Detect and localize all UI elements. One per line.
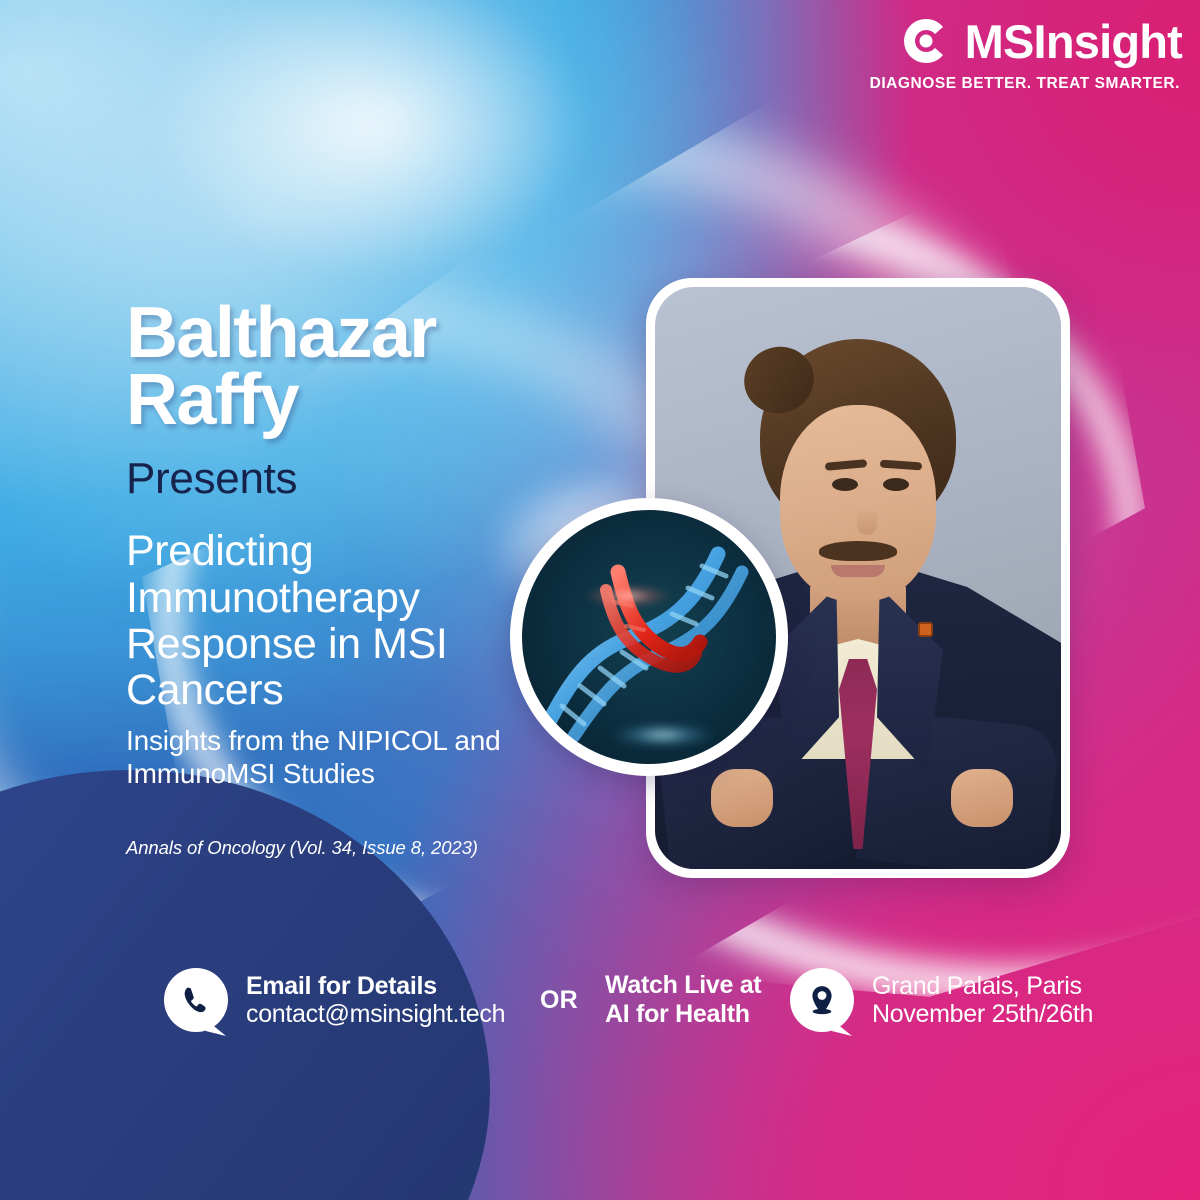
portrait-hand-right (951, 769, 1013, 827)
portrait-mouth (831, 565, 885, 577)
logo-row: MSInsight (901, 16, 1182, 66)
venue-text: Grand Palais, Paris November 25th/26th (872, 972, 1093, 1029)
portrait-nose (857, 497, 877, 535)
email-value[interactable]: contact@msinsight.tech (246, 1000, 505, 1029)
talk-title: Predicting Immunotherapy Response in MSI… (126, 528, 596, 714)
talk-subtitle: Insights from the NIPICOL and ImmunoMSI … (126, 724, 596, 790)
presents-label: Presents (126, 456, 596, 502)
email-contact-block[interactable]: Email for Details contact@msinsight.tech (164, 968, 505, 1032)
watch-live-line1: Watch Live at (605, 971, 761, 1000)
venue-block[interactable]: Grand Palais, Paris November 25th/26th (790, 968, 1093, 1032)
portrait-eye-left (832, 478, 858, 491)
watch-live-line2: AI for Health (605, 1000, 761, 1029)
email-heading: Email for Details (246, 972, 505, 1001)
dna-flare-blue (593, 721, 733, 749)
phone-icon-bubble (164, 968, 228, 1032)
email-contact-text: Email for Details contact@msinsight.tech (246, 972, 505, 1029)
contact-separator: OR (540, 986, 578, 1015)
portrait-moustache (819, 541, 897, 561)
background-glow-top-left (60, 0, 680, 340)
portrait-lapel-pin (918, 622, 933, 637)
location-pin-bubble (790, 968, 854, 1032)
watch-live-block[interactable]: Watch Live at AI for Health (605, 971, 761, 1029)
promo-poster: MSInsight DIAGNOSE BETTER. TREAT SMARTER… (0, 0, 1200, 1200)
portrait-eye-right (883, 478, 909, 491)
talk-citation: Annals of Oncology (Vol. 34, Issue 8, 20… (126, 836, 496, 859)
venue-location: Grand Palais, Paris (872, 972, 1093, 1001)
left-text-column: Balthazar Raffy Presents Predicting Immu… (126, 300, 596, 859)
brand-tagline: DIAGNOSE BETTER. TREAT SMARTER. (870, 75, 1180, 93)
portrait-hand-left (711, 769, 773, 827)
venue-date: November 25th/26th (872, 1000, 1093, 1029)
contact-bar: Email for Details contact@msinsight.tech… (0, 945, 1200, 1055)
brand-logo: MSInsight DIAGNOSE BETTER. TREAT SMARTER… (870, 16, 1182, 93)
phone-icon (181, 985, 211, 1015)
brand-name: MSInsight (965, 18, 1182, 65)
msinsight-logo-mark-icon (901, 16, 951, 66)
speaker-name: Balthazar Raffy (126, 300, 596, 434)
location-pin-icon (806, 984, 838, 1016)
